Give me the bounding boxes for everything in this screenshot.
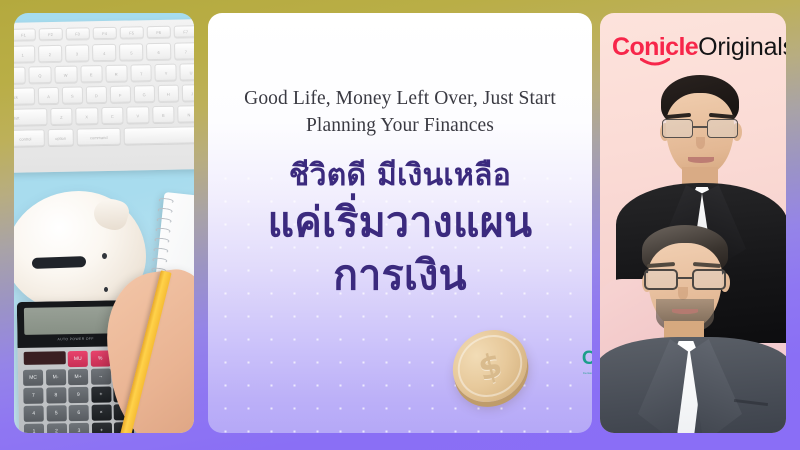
keyboard-key: A [38, 87, 59, 104]
keyboard-key: 7 [174, 42, 194, 59]
calculator-key: → [90, 369, 110, 385]
person-back-mouth [688, 157, 714, 163]
calculator-key: 3 [69, 423, 89, 433]
piggy-ear [91, 195, 132, 233]
keyboard-image: esc F1 F2 F3 F4 F5 F6 F7 F8 ~ 1 2 3 4 5 … [14, 19, 194, 174]
english-headline: Good Life, Money Left Over, Just Start P… [232, 85, 568, 139]
keyboard-key: J [182, 84, 194, 101]
keyboard-key: 3 [65, 44, 90, 61]
person-back-nose [696, 137, 705, 149]
keyboard-key: E [80, 65, 102, 82]
calculator-key: 6 [69, 405, 89, 421]
cmsk-tagline: Center of Mental Skills and Knowledge [571, 371, 592, 375]
piggy-eye [102, 253, 107, 259]
keyboard-key: 4 [92, 44, 117, 61]
eyeglass-lens [662, 119, 693, 138]
keyboard-key: R [105, 65, 127, 82]
keyboard-key: F [110, 86, 131, 103]
keyboard-key: 2 [38, 45, 63, 62]
keyboard-key: 5 [119, 43, 144, 60]
thai-headline-block: ชีวิตดี มีเงินเหลือ แค่เริ่มวางแผน การเง… [218, 156, 582, 302]
keyboard-key: tab [14, 67, 26, 85]
keyboard-key: S [62, 86, 83, 103]
keyboard-key: N [177, 105, 194, 122]
right-photo-panel: ConicleOriginals [600, 13, 786, 433]
thai-headline-line-3: การเงิน [218, 249, 582, 302]
keyboard-key: F5 [119, 26, 143, 38]
thai-headline-line-2: แค่เริ่มวางแผน [218, 196, 582, 249]
keyboard-key: Y [155, 64, 177, 81]
keyboard-key: F3 [65, 27, 89, 39]
calculator-key: 9 [68, 387, 88, 403]
keyboard-key: G [133, 85, 155, 102]
conicle-brand-name: Conicle [612, 33, 698, 61]
cmsk-wordmark: CMSK [571, 349, 592, 369]
keyboard-key: option [48, 129, 74, 146]
keyboard-key: F4 [92, 27, 116, 39]
keyboard-key: 6 [146, 43, 171, 60]
keyboard-key: shift [14, 108, 47, 126]
keyboard-key: F7 [174, 25, 194, 37]
calculator-brand-label: AUTO POWER OFF [57, 337, 94, 342]
calculator-key: M+ [68, 369, 88, 385]
keyboard-key [124, 126, 194, 145]
keyboard-key: F1 [14, 28, 36, 40]
keyboard-key: V [126, 106, 149, 123]
keyboard-key: control [14, 129, 45, 147]
keyboard-key: caps lock [14, 87, 35, 105]
calculator-key: 8 [46, 387, 66, 403]
cmsk-partner-logo[interactable]: CMSK Center of Mental Skills and Knowled… [571, 349, 592, 375]
keyboard-key: B [152, 106, 175, 123]
calculator-key: 1 [24, 424, 44, 433]
keyboard-key: F2 [38, 28, 62, 40]
banner-canvas: esc F1 F2 F3 F4 F5 F6 F7 F8 ~ 1 2 3 4 5 … [0, 0, 800, 450]
keyboard-key: U [180, 63, 194, 80]
keyboard-key: 1 [14, 45, 35, 62]
keyboard-key: C [101, 107, 124, 124]
piggy-coin-slot [32, 256, 86, 269]
calculator-key: + [91, 423, 111, 433]
keyboard-key: W [54, 66, 77, 83]
calculator-key: MU [68, 351, 88, 367]
keyboard-key: command [76, 128, 121, 146]
calculator-key: × [91, 405, 111, 421]
center-content-card: Good Life, Money Left Over, Just Start P… [208, 13, 592, 433]
thai-headline-line-1: ชีวิตดี มีเงินเหลือ [218, 156, 582, 196]
calculator-key: 2 [46, 424, 66, 433]
keyboard-key: T [130, 64, 152, 81]
smile-underline-icon [640, 58, 670, 68]
calculator-key: 5 [46, 405, 66, 421]
keyboard-key: D [86, 86, 107, 103]
calculator-key: MC [23, 370, 43, 386]
keyboard-key: Z [50, 108, 73, 125]
calculator-key: + [91, 387, 111, 403]
eyeglass-lens [644, 269, 678, 290]
keyboard-key: H [158, 85, 179, 102]
piggy-eye [104, 287, 108, 292]
eyeglass-bridge [678, 277, 692, 279]
calculator-key: 4 [24, 406, 44, 422]
keyboard-key: F6 [147, 26, 171, 38]
keyboard-key: Q [29, 66, 52, 83]
eyeglass-lens [692, 269, 726, 290]
conicle-originals-label: Originals [698, 33, 786, 61]
conicle-originals-logo[interactable]: ConicleOriginals [612, 33, 786, 62]
eyeglasses-icon [662, 119, 738, 138]
calculator-key: 7 [23, 388, 43, 404]
keyboard-key: X [75, 107, 98, 124]
person-front-image [602, 225, 786, 433]
eyeglass-bridge [693, 126, 707, 128]
person-front-mouth [672, 309, 698, 314]
left-photo-panel: esc F1 F2 F3 F4 F5 F6 F7 F8 ~ 1 2 3 4 5 … [14, 13, 194, 433]
calculator-key: M- [45, 369, 65, 385]
eyeglass-lens [707, 119, 738, 138]
